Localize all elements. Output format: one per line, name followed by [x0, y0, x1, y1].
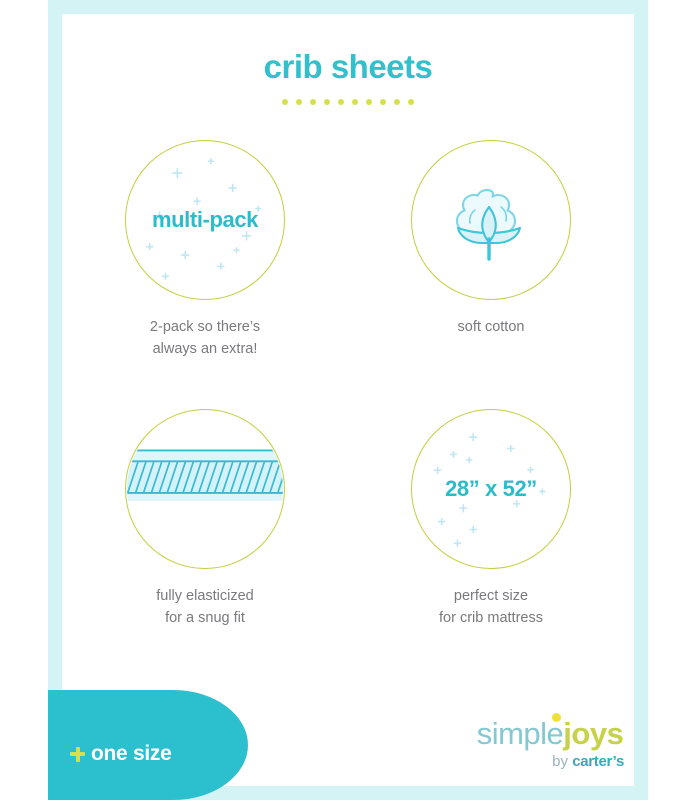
feature-circle-label: multi-pack	[152, 207, 258, 233]
feature-multi-pack: multi-pack 2-pack so there’s always an e…	[62, 140, 348, 361]
frame-border-right	[634, 0, 648, 800]
feature-caption: soft cotton	[458, 316, 525, 338]
logo-brand-text: carter’s	[572, 753, 624, 770]
logo-by-text: by	[552, 753, 572, 770]
logo-wordmark: simplejoys	[470, 718, 630, 749]
feature-caption: perfect size for crib mattress	[439, 585, 543, 630]
plus-icon	[70, 747, 85, 762]
brand-logo: simplejoys by carter’s	[470, 718, 630, 770]
feature-fully-elasticized: fully elasticized for a snug fit	[62, 409, 348, 630]
dotted-divider	[62, 99, 634, 105]
elastic-band-icon	[126, 410, 284, 568]
cotton-boll-icon	[436, 165, 546, 275]
feature-circle-soft-cotton	[411, 140, 571, 300]
page-title: crib sheets	[62, 48, 634, 86]
divider-dot	[394, 99, 400, 105]
divider-dot	[296, 99, 302, 105]
divider-dot	[408, 99, 414, 105]
feature-circle-elasticized	[125, 409, 285, 569]
one-size-badge-content: one size	[70, 742, 171, 766]
logo-dot-icon	[552, 713, 561, 722]
logo-word-simple: simple	[477, 716, 564, 751]
feature-circle-label: 28” x 52”	[445, 476, 537, 502]
feature-caption: 2-pack so there’s always an extra!	[150, 316, 260, 361]
frame-border-top	[48, 0, 648, 14]
divider-dot	[324, 99, 330, 105]
divider-dot	[338, 99, 344, 105]
feature-circle-multi-pack: multi-pack	[125, 140, 285, 300]
divider-dot	[380, 99, 386, 105]
frame-border-left	[48, 0, 62, 800]
feature-soft-cotton: soft cotton	[348, 140, 634, 361]
one-size-label: one size	[91, 742, 171, 766]
feature-grid: multi-pack 2-pack so there’s always an e…	[62, 140, 634, 630]
divider-dot	[366, 99, 372, 105]
feature-perfect-size: 28” x 52” perfect size for crib mattress	[348, 409, 634, 630]
divider-dot	[352, 99, 358, 105]
divider-dot	[282, 99, 288, 105]
logo-word-joys: joys	[563, 716, 623, 751]
feature-caption: fully elasticized for a snug fit	[156, 585, 254, 630]
product-infographic: crib sheets	[0, 0, 700, 800]
logo-byline: by carter’s	[470, 753, 630, 770]
feature-circle-perfect-size: 28” x 52”	[411, 409, 571, 569]
divider-dot	[310, 99, 316, 105]
one-size-badge: one size	[48, 690, 248, 800]
